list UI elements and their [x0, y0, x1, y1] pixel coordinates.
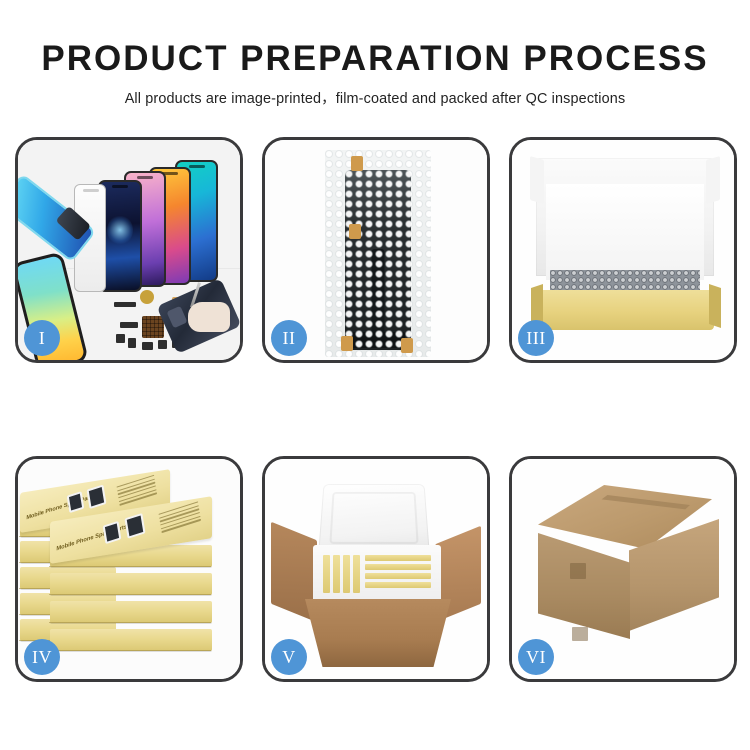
stack-layer-front-4 [50, 629, 212, 651]
step-panel-4: Mobile Phone Spare Parts Mobile [15, 456, 243, 682]
box-print-screen-thumb-c [103, 521, 122, 544]
carton-tape-patch-top [570, 563, 586, 579]
process-step-grid: I II [15, 137, 737, 682]
bubble-wrap-bag [325, 150, 431, 357]
box-print-spec-lines-front [159, 501, 202, 535]
part-logic-board [142, 316, 164, 338]
part-button-cap [158, 340, 167, 349]
part-sim-tray [142, 342, 153, 350]
stack-layer-front-3 [50, 601, 212, 623]
yellow-box-slot-4 [353, 555, 360, 593]
step-badge-6: VI [518, 639, 554, 675]
box-stack: Mobile Phone Spare Parts Mobile [18, 473, 240, 669]
step-badge-2: II [271, 320, 307, 356]
notch-icon [137, 176, 153, 179]
part-antenna-strip [114, 302, 136, 307]
step-badge-1: I [24, 320, 60, 356]
yellow-box-row-1 [365, 555, 431, 561]
part-camera-module [116, 334, 125, 343]
box-print-spec-lines-rear [117, 475, 158, 508]
box-print-screen-thumb-b [87, 484, 107, 509]
carton-body [305, 599, 451, 667]
page-subtitle: All products are image-printed，film-coat… [0, 87, 750, 108]
stack-layer-front-2 [50, 573, 212, 595]
step-panel-6: VI [509, 456, 737, 682]
step-badge-5: V [271, 639, 307, 675]
part-speaker-coil [140, 290, 154, 304]
tape-tab-mid [349, 224, 361, 239]
notch-icon [112, 185, 128, 188]
yellow-box-row-3 [365, 573, 431, 579]
yellow-boxes-inside [323, 553, 433, 595]
tape-tab-bottom-right [401, 338, 413, 353]
step-panel-3: III [509, 137, 737, 363]
styrofoam-lid [318, 484, 430, 553]
part-vibrator [128, 338, 136, 348]
box-print-screen-thumb-d [124, 513, 145, 539]
box-print-screen-thumb-a [67, 491, 85, 513]
step-badge-3: III [518, 320, 554, 356]
flex-cable-strip [372, 249, 385, 345]
yellow-box-row-4 [365, 582, 431, 588]
page-title: PRODUCT PREPARATION PROCESS [0, 41, 750, 78]
wrapped-screen-part [345, 170, 411, 350]
yellow-box-slot-1 [323, 555, 330, 593]
step-panel-2: II [262, 137, 490, 363]
tape-tab-top [351, 156, 363, 171]
yellow-box-slot-2 [333, 555, 340, 593]
white-foam-sheet [546, 184, 704, 280]
step-panel-5: V [262, 456, 490, 682]
hand-shape [188, 302, 230, 332]
carton-tape-patch-bottom [572, 627, 588, 641]
yellow-box-slot-3 [343, 555, 350, 593]
yellow-box-row-2 [365, 564, 431, 570]
product-preparation-infographic: PRODUCT PREPARATION PROCESS All products… [0, 0, 750, 750]
notch-icon [189, 165, 205, 168]
header: PRODUCT PREPARATION PROCESS All products… [0, 0, 750, 108]
repair-tool-hand [188, 282, 234, 332]
part-connector-a [120, 322, 138, 328]
connector-block [351, 332, 405, 348]
tape-tab-bottom-left [341, 336, 353, 351]
yellow-box-base [538, 290, 714, 330]
step-panel-1: I [15, 137, 243, 363]
step-badge-4: IV [24, 639, 60, 675]
